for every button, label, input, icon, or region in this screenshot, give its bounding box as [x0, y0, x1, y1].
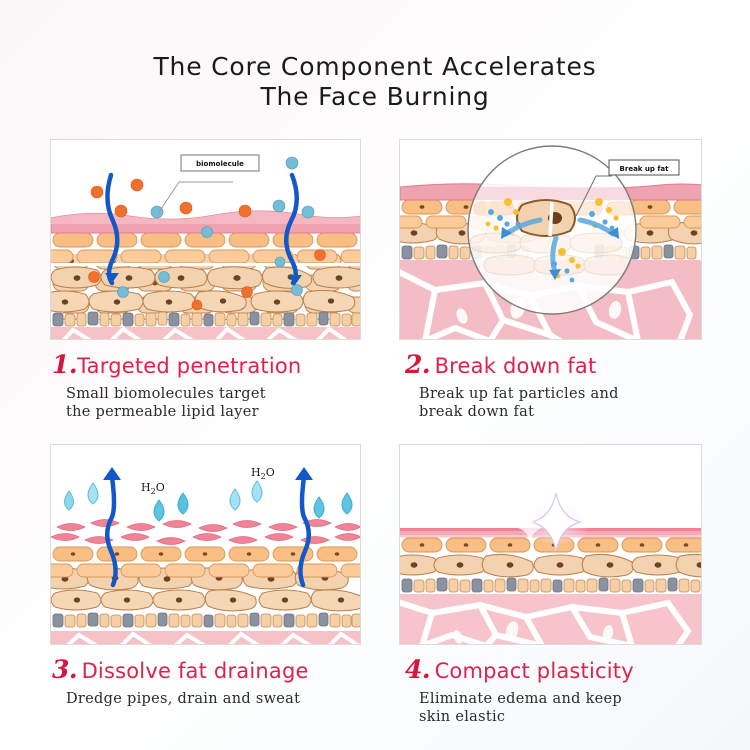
- panel-number-4: 4.: [405, 655, 430, 684]
- caption-body-1: Small biomolecules target the permeable …: [52, 385, 392, 421]
- panel-title-1: Targeted penetration: [77, 354, 301, 378]
- panel-break-down-fat: Break up fat: [399, 139, 702, 340]
- caption-body-4-line2: skin elastic: [419, 708, 735, 726]
- page-title: The Core Component Accelerates The Face …: [0, 52, 750, 112]
- caption-heading: 2. Break down fat: [405, 352, 735, 377]
- caption-heading: 3. Dissolve fat drainage: [52, 657, 392, 682]
- caption-body-2-line2: break down fat: [419, 403, 735, 421]
- panel-title-3: Dissolve fat drainage: [82, 659, 309, 683]
- panel-number-3: 3.: [52, 655, 77, 684]
- caption-break-down-fat: 2. Break down fat Break up fat particles…: [405, 352, 735, 421]
- panel-targeted-penetration: biomolecule: [50, 139, 361, 340]
- caption-compact-plasticity: 4. Compact plasticity Eliminate edema an…: [405, 657, 735, 726]
- title-line-2: The Face Burning: [0, 82, 750, 112]
- caption-targeted-penetration: 1.Targeted penetration Small biomolecule…: [52, 352, 392, 421]
- panel-dissolve-fat-drainage: H2O H2O: [50, 444, 361, 645]
- callout-label-break-up-fat: Break up fat: [620, 165, 670, 173]
- illustration-compact-plasticity: [400, 445, 702, 645]
- illustration-dissolve-fat-drainage: H2O H2O: [51, 445, 361, 645]
- caption-body-1-line1: Small biomolecules target: [66, 385, 392, 403]
- caption-body-3: Dredge pipes, drain and sweat: [52, 690, 392, 708]
- caption-body-3-line1: Dredge pipes, drain and sweat: [66, 690, 392, 708]
- callout-label-biomolecule: biomolecule: [196, 160, 244, 168]
- illustration-break-down-fat: Break up fat: [400, 140, 702, 340]
- caption-heading: 4. Compact plasticity: [405, 657, 735, 682]
- panel-number-1: 1.: [52, 350, 77, 379]
- panel-compact-plasticity: [399, 444, 702, 645]
- caption-heading: 1.Targeted penetration: [52, 352, 392, 377]
- panel-title-2: Break down fat: [435, 354, 597, 378]
- splitting-fat-cell: [517, 200, 575, 236]
- caption-body-4: Eliminate edema and keep skin elastic: [405, 690, 735, 726]
- caption-body-1-line2: the permeable lipid layer: [66, 403, 392, 421]
- panel-title-4: Compact plasticity: [435, 659, 634, 683]
- caption-body-4-line1: Eliminate edema and keep: [419, 690, 735, 708]
- infographic-root: The Core Component Accelerates The Face …: [0, 0, 750, 750]
- caption-body-2: Break up fat particles and break down fa…: [405, 385, 735, 421]
- title-line-1: The Core Component Accelerates: [0, 52, 750, 82]
- caption-dissolve-fat-drainage: 3. Dissolve fat drainage Dredge pipes, d…: [52, 657, 392, 708]
- caption-body-2-line1: Break up fat particles and: [419, 385, 735, 403]
- illustration-targeted-penetration: biomolecule: [51, 140, 361, 340]
- panel-number-2: 2.: [405, 350, 430, 379]
